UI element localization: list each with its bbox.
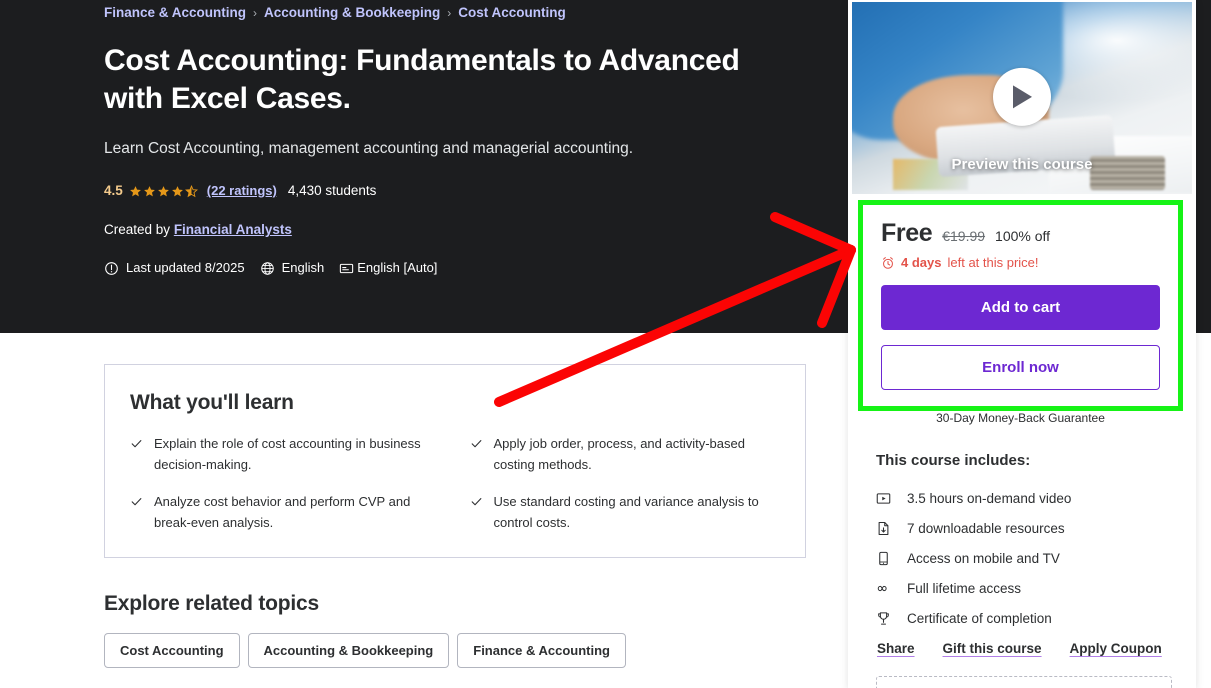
learn-item-label: Analyze cost behavior and perform CVP an… — [154, 491, 442, 533]
includes-item-label: Access on mobile and TV — [907, 551, 1060, 566]
sidebar-action-links: Share Gift this course Apply Coupon — [877, 641, 1162, 656]
breadcrumb: Finance & Accounting › Accounting & Book… — [104, 0, 804, 22]
trophy-icon — [876, 611, 891, 626]
includes-item-label: Full lifetime access — [907, 581, 1021, 596]
alarm-clock-icon — [881, 256, 895, 270]
includes-item-certificate: Certificate of completion — [876, 603, 1176, 633]
rating-row: 4.5 (22 ratings) 4,430 students — [104, 182, 804, 200]
this-course-includes-title: This course includes: — [876, 452, 1176, 469]
star-rating — [129, 185, 198, 198]
learn-item-label: Explain the role of cost accounting in b… — [154, 433, 442, 475]
learn-item: Use standard costing and variance analys… — [470, 491, 782, 533]
includes-item-label: 7 downloadable resources — [907, 521, 1065, 536]
hero-right-gutter — [1196, 0, 1211, 333]
star-full-icon — [129, 185, 142, 198]
captions-text: English [Auto] — [357, 259, 437, 277]
created-by-row: Created by Financial Analysts — [104, 221, 804, 239]
urgency-text: left at this price! — [947, 255, 1038, 270]
money-back-guarantee-label: 30-Day Money-Back Guarantee — [858, 411, 1183, 425]
price-urgency-row: 4 days left at this price! — [881, 255, 1160, 270]
closed-captions-icon — [339, 261, 354, 276]
ratings-count-link[interactable]: (22 ratings) — [207, 182, 277, 200]
apply-coupon-link[interactable]: Apply Coupon — [1070, 641, 1162, 656]
purchase-box-highlight: Free €19.99 100% off 4 days left at this… — [858, 200, 1183, 411]
includes-item-lifetime: Full lifetime access — [876, 573, 1176, 603]
captions-meta: English [Auto] — [339, 259, 437, 277]
infinity-icon — [876, 581, 891, 596]
learn-item: Analyze cost behavior and perform CVP an… — [130, 491, 442, 533]
exclamation-circle-icon — [104, 261, 119, 276]
breadcrumb-item-cost-accounting[interactable]: Cost Accounting — [458, 4, 566, 22]
breadcrumb-item-accounting-bookkeeping[interactable]: Accounting & Bookkeeping — [264, 4, 440, 22]
check-icon — [470, 495, 483, 508]
check-icon — [470, 437, 483, 450]
course-landing-page: Finance & Accounting › Accounting & Book… — [0, 0, 1211, 688]
check-icon — [130, 495, 143, 508]
learn-item-label: Apply job order, process, and activity-b… — [494, 433, 782, 475]
includes-item-resources: 7 downloadable resources — [876, 513, 1176, 543]
what-you-will-learn-card: What you'll learn Explain the role of co… — [104, 364, 806, 558]
language-text: English — [282, 259, 325, 277]
share-link[interactable]: Share — [877, 641, 915, 656]
last-updated-text: Last updated 8/2025 — [126, 259, 245, 277]
breadcrumb-separator-icon: › — [253, 4, 257, 22]
includes-item-label: 3.5 hours on-demand video — [907, 491, 1071, 506]
purchase-box: Free €19.99 100% off 4 days left at this… — [863, 205, 1178, 406]
star-full-icon — [171, 185, 184, 198]
star-full-icon — [143, 185, 156, 198]
coupon-input-field[interactable] — [876, 676, 1172, 688]
enroll-now-button[interactable]: Enroll now — [881, 345, 1160, 390]
hero-content: Finance & Accounting › Accounting & Book… — [104, 0, 804, 277]
globe-icon — [260, 261, 275, 276]
topic-chip-accounting-bookkeeping[interactable]: Accounting & Bookkeeping — [248, 633, 450, 668]
page-title: Cost Accounting: Fundamentals to Advance… — [104, 42, 794, 118]
course-preview-video[interactable]: Preview this course — [852, 2, 1192, 194]
language-meta: English — [260, 259, 325, 277]
star-half-icon — [185, 185, 198, 198]
student-count: 4,430 students — [288, 182, 377, 200]
learn-item: Apply job order, process, and activity-b… — [470, 433, 782, 475]
topic-chip-finance-accounting[interactable]: Finance & Accounting — [457, 633, 626, 668]
related-topic-chips: Cost Accounting Accounting & Bookkeeping… — [104, 633, 806, 668]
breadcrumb-item-finance-accounting[interactable]: Finance & Accounting — [104, 4, 246, 22]
main-content-column: What you'll learn Explain the role of co… — [104, 364, 806, 668]
discount-percent: 100% off — [995, 228, 1050, 244]
includes-list: 3.5 hours on-demand video 7 downloadable… — [876, 483, 1176, 633]
rating-value: 4.5 — [104, 182, 123, 200]
price-row: Free €19.99 100% off — [881, 219, 1160, 248]
this-course-includes-section: This course includes: 3.5 hours on-deman… — [876, 452, 1176, 633]
explore-related-topics-title: Explore related topics — [104, 592, 806, 616]
includes-item-video: 3.5 hours on-demand video — [876, 483, 1176, 513]
learn-item-label: Use standard costing and variance analys… — [494, 491, 782, 533]
topic-chip-cost-accounting[interactable]: Cost Accounting — [104, 633, 240, 668]
instructor-link[interactable]: Financial Analysts — [174, 222, 292, 237]
video-icon — [876, 491, 891, 506]
check-icon — [130, 437, 143, 450]
what-you-will-learn-grid: Explain the role of cost accounting in b… — [130, 433, 781, 533]
last-updated-meta: Last updated 8/2025 — [104, 259, 245, 277]
urgency-days: 4 days — [901, 255, 941, 270]
play-icon — [1010, 84, 1034, 110]
course-meta-row: Last updated 8/2025 English English [Aut… — [104, 259, 804, 277]
learn-item: Explain the role of cost accounting in b… — [130, 433, 442, 475]
thumbnail-coins-shape — [1090, 156, 1165, 191]
add-to-cart-button[interactable]: Add to cart — [881, 285, 1160, 330]
current-price: Free — [881, 219, 932, 248]
course-headline: Learn Cost Accounting, management accoun… — [104, 138, 804, 160]
play-button[interactable] — [993, 68, 1051, 126]
breadcrumb-separator-icon: › — [447, 4, 451, 22]
includes-item-mobile: Access on mobile and TV — [876, 543, 1176, 573]
includes-item-label: Certificate of completion — [907, 611, 1052, 626]
gift-this-course-link[interactable]: Gift this course — [943, 641, 1042, 656]
mobile-device-icon — [876, 551, 891, 566]
star-full-icon — [157, 185, 170, 198]
course-sidebar: Preview this course Free €19.99 100% off… — [848, 0, 1196, 688]
download-file-icon — [876, 521, 891, 536]
what-you-will-learn-title: What you'll learn — [130, 391, 781, 415]
created-by-label: Created by — [104, 222, 170, 237]
original-price: €19.99 — [942, 228, 985, 244]
